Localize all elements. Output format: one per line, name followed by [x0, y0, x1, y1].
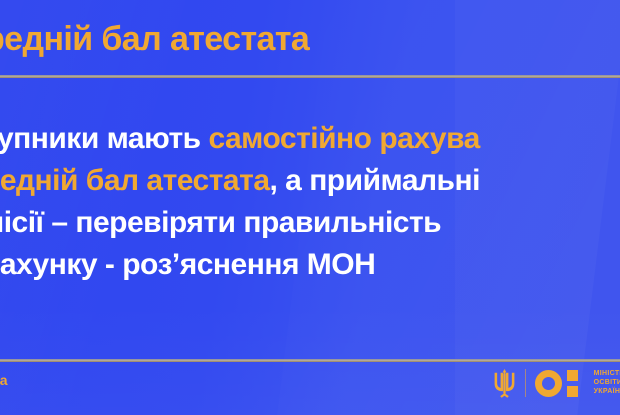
footer-website-url[interactable]: ov.ua	[0, 372, 8, 388]
body-line-3: місії – перевіряти правильність	[0, 202, 620, 244]
mon-organization-name: МІНІСТЕРСТВО ОСВІТИ І НАУКИ УКРАЇНИ	[594, 370, 620, 396]
body-line-2-segment-1: редній бал атестата	[0, 164, 270, 197]
mon-logo-colon-icon	[567, 370, 578, 397]
divider-bottom	[0, 359, 620, 362]
body-line-1: тупники мають самостійно рахува	[0, 118, 620, 160]
mon-name-line-3: УКРАЇНИ	[594, 388, 620, 396]
brand-lockup: МІНІСТЕРСТВО ОСВІТИ І НАУКИ УКРАЇНИ	[493, 366, 620, 400]
brand-separator	[525, 369, 526, 397]
body-line-2-segment-2: , а приймальні	[270, 164, 480, 197]
page-title: редній бал атестата	[0, 22, 309, 56]
mon-logo-square-top	[567, 370, 578, 381]
banner-canvas: редній бал атестата тупники мають самост…	[0, 0, 620, 415]
mon-name-line-2: ОСВІТИ І НАУКИ	[594, 379, 620, 387]
body-line-1-segment-2: самостійно рахува	[208, 122, 479, 155]
body-line-2: редній бал атестата, а приймальні	[0, 160, 620, 202]
ukraine-trident-tryzub-icon	[493, 368, 516, 399]
body-line-3-segment-1: місії – перевіряти правильність	[0, 206, 441, 239]
divider-top	[0, 75, 620, 78]
body-line-1-segment-1: тупники мають	[0, 122, 208, 155]
body-copy: тупники мають самостійно рахува редній б…	[0, 118, 620, 286]
mon-logo-square-bottom	[567, 386, 578, 397]
body-line-4: рахунку - роз’яснення МОН	[0, 244, 620, 286]
mon-logo-circle-icon	[535, 370, 562, 397]
mon-name-line-1: МІНІСТЕРСТВО	[594, 370, 620, 378]
body-line-4-segment-1: рахунку - роз’яснення МОН	[0, 248, 375, 281]
mon-logo-mark	[535, 370, 578, 397]
